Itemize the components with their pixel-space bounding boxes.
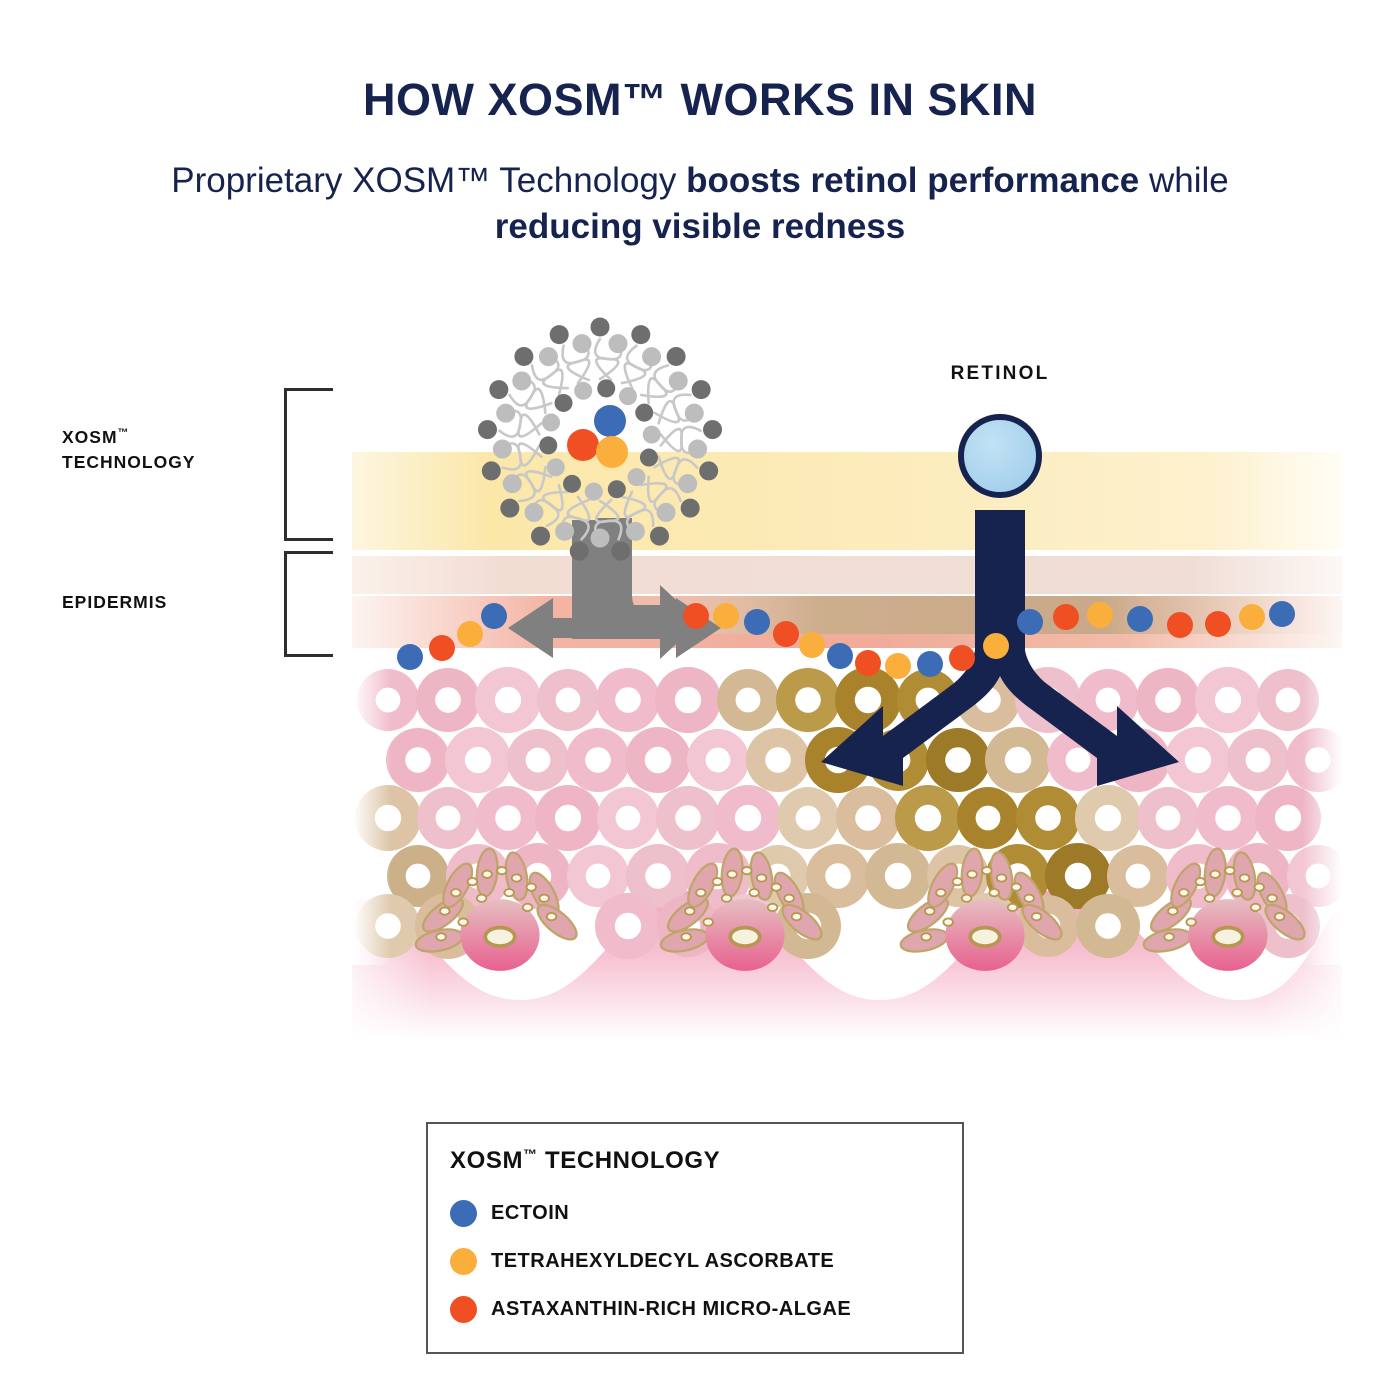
epidermal-cell-nucleus xyxy=(1005,863,1031,889)
lipid-tail xyxy=(661,427,701,451)
melanocyte-dendrite xyxy=(1203,848,1228,898)
arrow-right-gray xyxy=(613,518,721,658)
epidermal-cell-nucleus xyxy=(1095,913,1121,939)
epidermal-cell xyxy=(1165,727,1231,793)
melanin-granule xyxy=(696,889,706,896)
lipid-tail xyxy=(595,339,618,379)
melanin-granule xyxy=(953,878,963,885)
ingredient-molecule xyxy=(917,651,943,677)
lipid-head-outer xyxy=(572,334,591,353)
lipid-head-inner xyxy=(627,468,645,486)
lipid-tail xyxy=(532,485,562,515)
lipid-head-outer xyxy=(626,522,645,541)
epidermal-cell-nucleus xyxy=(1066,748,1091,773)
epidermal-cell-nucleus xyxy=(1275,805,1301,831)
epidermal-cell xyxy=(596,668,660,732)
melanocyte-body xyxy=(705,899,784,971)
liposome-payload-molecule xyxy=(596,436,628,468)
epidermal-cell-nucleus xyxy=(1095,805,1121,831)
ingredient-molecule xyxy=(1127,606,1153,632)
melanocyte-dendrite xyxy=(524,869,564,921)
melanin-granule xyxy=(936,889,946,896)
epidermal-cell xyxy=(537,669,599,731)
retinol-pathway xyxy=(821,417,1179,786)
melanin-granule xyxy=(1232,889,1242,896)
epidermal-cell-nucleus xyxy=(976,806,1001,831)
ingredient-molecule xyxy=(1017,609,1043,635)
melanocyte-dendrite xyxy=(1252,869,1292,921)
lipid-tail xyxy=(532,365,562,395)
melanocyte-nucleus xyxy=(1213,928,1242,946)
melanin-granule xyxy=(921,933,931,940)
epidermal-cell xyxy=(567,845,629,907)
epidermal-cell-nucleus xyxy=(586,864,611,889)
epidermal-cell xyxy=(927,845,989,907)
lipid-tail xyxy=(543,492,568,526)
epidermal-cell xyxy=(1137,787,1199,849)
layer-label-epidermis: EPIDERMIS xyxy=(62,590,277,615)
melanin-granule xyxy=(681,933,691,940)
epidermal-cell xyxy=(387,845,449,907)
melanocyte xyxy=(1142,848,1310,971)
lipid-tail xyxy=(641,483,668,514)
epidermal-cell xyxy=(1286,728,1350,792)
melanocyte-dendrite xyxy=(1142,926,1193,956)
lipid-tail xyxy=(563,497,590,534)
lipid-head-outer xyxy=(539,347,558,366)
legend-item-1: TETRAHEXYLDECYL ASCORBATE xyxy=(450,1237,962,1285)
lipid-head-outer xyxy=(703,420,722,439)
melanocyte-dendrite xyxy=(1017,899,1067,945)
lipid-head-outer xyxy=(514,347,533,366)
xosm-diffusion-arrows xyxy=(506,518,721,659)
epidermal-cell-nucleus xyxy=(1245,863,1271,889)
melanin-granule xyxy=(1024,895,1034,902)
melanocyte-dendrite xyxy=(475,848,500,898)
epidermal-cell xyxy=(746,728,810,792)
ingredient-molecule xyxy=(1239,604,1265,630)
lipid-tail xyxy=(510,467,546,491)
lipid-head-outer xyxy=(550,325,569,344)
lipid-head-outer xyxy=(685,404,704,423)
lipid-head-inner xyxy=(597,379,615,397)
melanin-granule xyxy=(703,918,713,925)
lipid-head-outer xyxy=(681,499,700,518)
melanin-granule xyxy=(749,889,759,896)
epidermal-cell xyxy=(716,894,780,958)
lipid-tail xyxy=(648,378,680,403)
melanocyte-dendrite xyxy=(1009,869,1049,921)
epidermal-cell-nucleus xyxy=(975,913,1001,939)
ingredient-molecule-trails xyxy=(397,601,1295,679)
lipid-head-outer xyxy=(555,522,574,541)
epidermal-cell xyxy=(1075,785,1141,851)
epidermal-cell xyxy=(356,894,420,958)
legend-label-0: ECTOIN xyxy=(491,1202,569,1225)
ingredient-molecule xyxy=(429,635,455,661)
lipid-tail xyxy=(661,429,701,453)
melanocyte xyxy=(414,848,582,971)
lipid-tail xyxy=(655,458,691,485)
stratum-corneum-band xyxy=(352,452,1342,550)
epidermal-cell xyxy=(625,727,691,793)
lipid-head-inner xyxy=(640,449,658,467)
lipid-head-outer xyxy=(591,318,610,337)
melanin-granule xyxy=(1240,874,1250,881)
epidermal-cell xyxy=(1195,667,1261,733)
melanin-granule xyxy=(1008,904,1018,911)
lipid-head-outer xyxy=(669,371,688,390)
melanin-granule xyxy=(440,907,450,914)
lipid-head-outer xyxy=(667,347,686,366)
epidermal-cell xyxy=(1225,843,1291,909)
ingredient-molecule xyxy=(1205,611,1231,637)
epidermal-cell xyxy=(1016,786,1080,850)
lipid-head-outer xyxy=(688,440,707,459)
melanocyte-dendrite xyxy=(777,899,827,945)
epidermis-upper-band xyxy=(352,556,1342,594)
lipid-tail xyxy=(655,395,691,422)
epidermal-cell xyxy=(1045,843,1111,909)
melanocyte xyxy=(899,848,1067,971)
epidermal-cell-nucleus xyxy=(766,864,791,889)
epidermal-cell-nucleus xyxy=(526,748,551,773)
epidermal-cell-nucleus xyxy=(1065,863,1091,889)
epidermal-cell-nucleus xyxy=(525,863,551,889)
melanin-granule xyxy=(1210,871,1220,878)
epidermal-cell xyxy=(446,844,510,908)
epidermal-cell-nucleus xyxy=(615,913,641,939)
melanocyte xyxy=(659,848,827,971)
melanin-granule xyxy=(436,933,446,940)
subtitle-text-1: Proprietary XOSM™ Technology xyxy=(171,161,686,200)
arrow-left-gray xyxy=(508,518,616,658)
epidermal-cell-nucleus xyxy=(1156,806,1181,831)
melanin-granule xyxy=(1164,933,1174,940)
epidermal-cell-nucleus xyxy=(615,687,641,713)
epidermal-cell xyxy=(1015,667,1081,733)
epidermal-cell xyxy=(595,893,661,959)
legend-swatch-2 xyxy=(450,1296,477,1323)
epidermal-cell-nucleus xyxy=(735,913,761,939)
epidermal-cell xyxy=(776,668,840,732)
lipid-head-inner xyxy=(635,404,653,422)
melanin-granule xyxy=(722,895,732,902)
epidermal-cell-nucleus xyxy=(975,687,1001,713)
ingredient-molecule xyxy=(949,645,975,671)
melanocyte-dendrite xyxy=(418,892,468,937)
lipid-tail xyxy=(641,365,668,396)
epidermal-cell xyxy=(1196,786,1260,850)
lipid-tail xyxy=(625,492,653,526)
melanocyte-dendrite xyxy=(960,848,985,898)
epidermal-cell xyxy=(986,844,1050,908)
melanocyte-dendrite xyxy=(720,848,745,898)
lipid-tail xyxy=(499,443,539,465)
epidermal-cell xyxy=(357,669,419,731)
epidermal-cell xyxy=(355,785,421,851)
legend-title-rest: TECHNOLOGY xyxy=(538,1147,721,1174)
legend-title-xosm: XOSM xyxy=(450,1147,523,1174)
ingredient-molecule xyxy=(481,603,507,629)
melanocyte-dendrite xyxy=(987,851,1015,902)
epidermal-cell-nucleus xyxy=(375,805,401,831)
epidermal-cell-nucleus xyxy=(495,687,521,713)
lipid-head-outer xyxy=(609,334,628,353)
epidermal-cell xyxy=(835,667,901,733)
epidermal-cell-nucleus xyxy=(376,688,401,713)
epidermal-cell-nucleus xyxy=(706,748,731,773)
epidermal-cell xyxy=(1017,895,1079,957)
ingredient-molecule xyxy=(1053,604,1079,630)
melanin-granule xyxy=(504,889,514,896)
legend-label-2: ASTAXANTHIN-RICH MICRO-ALGAE xyxy=(491,1298,851,1321)
lipid-head-outer xyxy=(496,404,515,423)
epidermal-cell-nucleus xyxy=(825,747,851,773)
subtitle-text-2: while xyxy=(1139,161,1228,200)
lipid-head-outer xyxy=(692,380,711,399)
epidermal-cell xyxy=(1047,729,1109,791)
epidermal-cell-nucleus xyxy=(585,747,611,773)
epidermal-cell-nucleus xyxy=(436,806,461,831)
retinol-molecule xyxy=(961,417,1039,495)
epidermal-cell-nucleus xyxy=(1276,688,1301,713)
epidermal-cell-nucleus xyxy=(945,747,971,773)
ingredient-molecule xyxy=(827,643,853,669)
ingredient-molecule xyxy=(744,609,770,635)
melanocyte-dendrite xyxy=(769,869,809,921)
epidermal-cell-nucleus xyxy=(885,863,911,889)
melanocyte-nucleus xyxy=(730,928,759,946)
lipid-tail xyxy=(595,501,618,541)
lipid-head-outer xyxy=(642,347,661,366)
epidermal-cell xyxy=(1255,785,1321,851)
epidermal-cell-nucleus xyxy=(825,863,851,889)
epidermal-cell-nucleus xyxy=(645,747,671,773)
epidermal-cell xyxy=(1076,894,1140,958)
lipid-head-outer xyxy=(478,420,497,439)
melanin-granule xyxy=(727,871,737,878)
epidermal-cell-nucleus xyxy=(1155,687,1181,713)
melanocyte-dendrite xyxy=(1230,851,1258,902)
lipid-head-outer xyxy=(524,503,543,522)
legend-item-list: ECTOINTETRAHEXYLDECYL ASCORBATEASTAXANTH… xyxy=(450,1189,962,1333)
melanocyte-dendrite xyxy=(663,892,713,937)
page-title: HOW XOSM™ WORKS IN SKIN xyxy=(0,74,1400,126)
epidermal-cell-nucleus xyxy=(916,688,941,713)
epidermal-cell-nucleus xyxy=(556,688,581,713)
epidermal-cell xyxy=(626,844,690,908)
epidermal-cell xyxy=(867,729,929,791)
ingredient-molecule xyxy=(1167,612,1193,638)
epidermal-cell xyxy=(1166,844,1230,908)
melanin-granule xyxy=(784,895,794,902)
ingredient-molecule xyxy=(885,653,911,679)
epidermal-cell-nucleus xyxy=(765,747,791,773)
lipid-head-outer xyxy=(650,527,669,546)
epidermal-cell-nucleus xyxy=(645,863,671,889)
lipid-head-outer xyxy=(678,474,697,493)
epidermal-cell xyxy=(417,787,479,849)
melanin-granule xyxy=(943,918,953,925)
melanocyte-nucleus xyxy=(970,928,999,946)
melanocyte-body xyxy=(945,899,1024,971)
ingredient-molecule xyxy=(1087,602,1113,628)
skin-layer-bands xyxy=(352,452,1342,648)
epidermal-cell xyxy=(657,895,719,957)
melanocyte-dendrite xyxy=(502,851,530,902)
epidermal-cell xyxy=(685,843,751,909)
epidermal-cell-nucleus xyxy=(375,913,401,939)
lipid-head-outer xyxy=(489,380,508,399)
epidermal-cell xyxy=(805,727,871,793)
epidermal-cell-nucleus xyxy=(1036,914,1061,939)
legend-box: XOSM™ TECHNOLOGY ECTOINTETRAHEXYLDECYL A… xyxy=(426,1122,964,1354)
epidermal-cell xyxy=(775,893,841,959)
subtitle-bold-2: reducing visible redness xyxy=(495,207,905,246)
lipid-tail xyxy=(596,341,621,380)
melanin-granule xyxy=(482,871,492,878)
epidermal-cell-nucleus xyxy=(675,805,701,831)
lipid-tail xyxy=(596,500,621,539)
epidermal-cell xyxy=(957,787,1019,849)
ingredient-molecule xyxy=(855,650,881,676)
lipid-head-outer xyxy=(500,499,519,518)
lipid-tail xyxy=(659,457,697,479)
melanin-granule xyxy=(1267,895,1277,902)
epidermal-cell-nucleus xyxy=(676,914,701,939)
epidermal-cell-nucleus xyxy=(1005,747,1031,773)
lipid-tail xyxy=(659,401,697,423)
melanocyte-body xyxy=(1188,899,1267,971)
melanin-granule xyxy=(967,871,977,878)
epidermal-cell xyxy=(985,727,1051,793)
melanocyte-dendrite xyxy=(903,892,953,937)
retinol-arrow-navy xyxy=(821,510,1179,786)
melanin-granule xyxy=(685,907,695,914)
epidermal-cell-nucleus xyxy=(1246,748,1271,773)
epidermal-cell-nucleus xyxy=(1096,688,1121,713)
epidermal-cell-nucleus xyxy=(555,805,581,831)
epidermal-cell-nucleus xyxy=(1126,864,1151,889)
epidermis-red-band xyxy=(352,596,1342,648)
epidermal-cell xyxy=(386,728,450,792)
melanocyte-dendrite xyxy=(683,859,723,911)
epidermal-cell xyxy=(475,667,541,733)
lipid-head-inner xyxy=(619,387,637,405)
bracket-epidermis xyxy=(284,551,333,657)
melanin-granule xyxy=(1225,867,1235,874)
epidermal-cell xyxy=(1077,669,1139,731)
melanin-granule xyxy=(512,874,522,881)
xosm-liposome xyxy=(478,318,722,561)
melanin-granule xyxy=(768,904,778,911)
lipid-tail xyxy=(568,341,589,380)
legend-swatch-0 xyxy=(450,1200,477,1227)
epidermal-cell-nucleus xyxy=(1185,863,1211,889)
melanin-granule xyxy=(1186,918,1196,925)
layer-label-technology-text: TECHNOLOGY xyxy=(62,452,195,472)
ingredient-molecule xyxy=(683,603,709,629)
melanocyte-body xyxy=(460,899,539,971)
epidermal-cell xyxy=(505,843,571,909)
epidermal-cell-nucleus xyxy=(705,863,731,889)
melanocyte-dendrite xyxy=(438,859,478,911)
melanocyte-dendrite xyxy=(1260,899,1310,945)
ingredient-molecule xyxy=(1269,601,1295,627)
epidermal-cell-nucleus xyxy=(435,687,461,713)
epidermal-cell-nucleus xyxy=(1125,747,1151,773)
melanin-granule xyxy=(989,889,999,896)
epidermal-cell xyxy=(865,843,931,909)
melanocyte-dendrite xyxy=(747,851,775,902)
melanin-granule xyxy=(547,913,557,920)
melanocyte-dendrite xyxy=(1146,892,1196,937)
epidermal-cell-field xyxy=(355,667,1350,959)
ingredient-molecule xyxy=(457,621,483,647)
lipid-tail xyxy=(499,415,539,437)
epidermal-cell-nucleus xyxy=(1215,687,1241,713)
melanocyte-dendrite xyxy=(659,926,710,956)
epidermal-cell xyxy=(476,786,540,850)
legend-trademark-symbol: ™ xyxy=(523,1146,538,1162)
subtitle-bold-1: boosts retinol performance xyxy=(686,161,1139,200)
melanocyte-dendrite xyxy=(532,899,582,945)
melanin-granule xyxy=(451,889,461,896)
epidermal-cell xyxy=(655,667,721,733)
lipid-tail xyxy=(563,346,590,383)
epidermal-cell xyxy=(416,668,480,732)
lipid-head-inner xyxy=(542,413,560,431)
melanocyte-nucleus xyxy=(485,928,514,946)
epidermal-cell-nucleus xyxy=(675,687,701,713)
epidermal-cell-nucleus xyxy=(915,805,941,831)
epidermal-cell xyxy=(806,844,870,908)
melanin-granule xyxy=(1011,883,1021,890)
epidermal-cell-nucleus xyxy=(946,864,971,889)
lipid-head-outer xyxy=(657,503,676,522)
melanin-granule xyxy=(539,895,549,902)
ingredient-molecule xyxy=(773,621,799,647)
melanin-granule xyxy=(1251,904,1261,911)
melanin-granule xyxy=(1196,878,1206,885)
melanin-granule xyxy=(1275,913,1285,920)
melanin-granule xyxy=(477,895,487,902)
lipid-tail xyxy=(503,444,541,470)
melanin-granule xyxy=(982,867,992,874)
melanin-granule xyxy=(792,913,802,920)
lipid-tail xyxy=(622,497,645,534)
epidermal-cell-nucleus xyxy=(1185,747,1211,773)
bracket-xosm-technology xyxy=(284,388,333,541)
liposome-payload-molecule xyxy=(594,405,626,437)
epidermal-cell xyxy=(717,669,779,731)
lipid-tail xyxy=(519,379,551,409)
retinol-label: RETINOL xyxy=(880,363,1120,385)
layer-label-xosm-technology: XOSM™TECHNOLOGY xyxy=(62,425,277,476)
melanocyte-group xyxy=(414,848,1310,971)
legend-label-1: TETRAHEXYLDECYL ASCORBATE xyxy=(491,1250,834,1273)
lipid-head-outer xyxy=(699,461,718,480)
melanin-granule xyxy=(1168,907,1178,914)
lipid-head-outer xyxy=(591,529,610,548)
ingredient-molecule xyxy=(397,644,423,670)
epidermal-cell xyxy=(926,728,990,792)
epidermal-cell xyxy=(956,668,1020,732)
lipid-head-inner xyxy=(608,480,626,498)
lipid-tail xyxy=(648,477,680,502)
melanin-granule xyxy=(925,907,935,914)
